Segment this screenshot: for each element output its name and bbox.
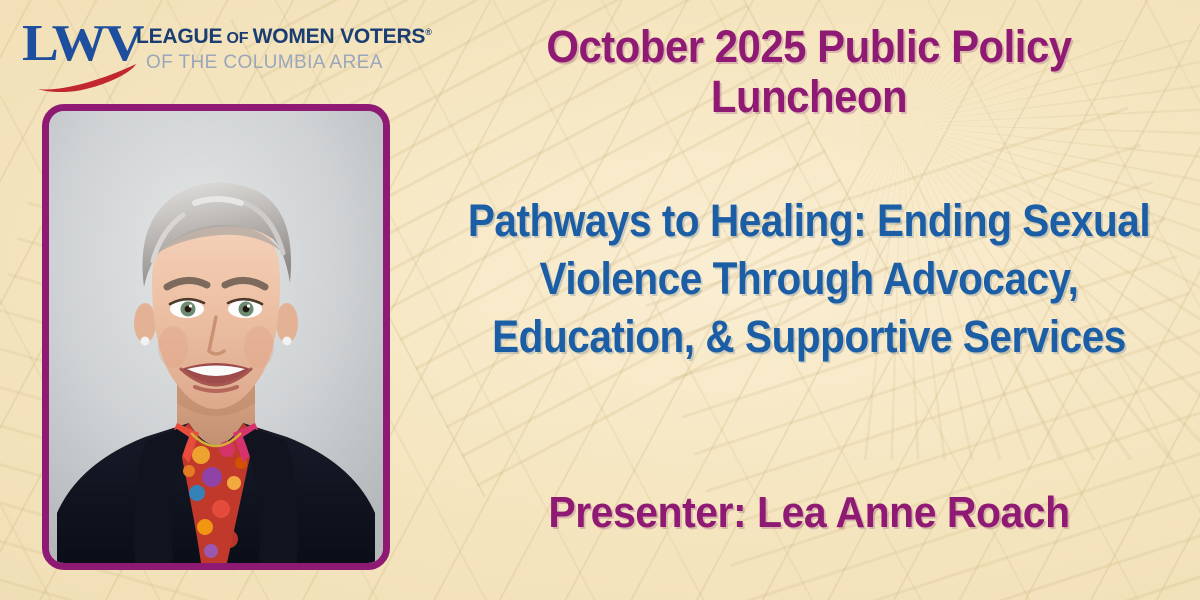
event-headline: October 2025 Public Policy Luncheon [445,22,1172,122]
presenter-portrait-image [49,111,383,563]
lwv-logo: LWV LEAGUE OF WOMEN VOTERS® OF THE COLUM… [22,16,422,94]
poster-text-column: October 2025 Public Policy Luncheon Path… [418,0,1200,600]
lwv-org-line-2: OF THE COLUMBIA AREA [146,52,426,74]
presenter-photo [49,111,383,563]
lwv-monogram-mark: LWV [22,18,130,88]
presenter-line: Presenter: Lea Anne Roach [445,487,1172,539]
lwv-swoosh-icon [36,62,144,92]
event-subtitle: Pathways to Healing: Ending Sexual Viole… [457,192,1161,366]
event-poster: LWV LEAGUE OF WOMEN VOTERS® OF THE COLUM… [0,0,1200,600]
lwv-women-voters-word: WOMEN VOTERS [253,25,426,48]
lwv-wordmark: LEAGUE OF WOMEN VOTERS® OF THE COLUMBIA … [136,20,426,74]
presenter-photo-frame [42,104,390,570]
lwv-org-line-1: LEAGUE OF WOMEN VOTERS® [136,20,426,51]
lwv-league-word: LEAGUE [136,25,222,48]
lwv-of-word: OF [222,30,252,47]
